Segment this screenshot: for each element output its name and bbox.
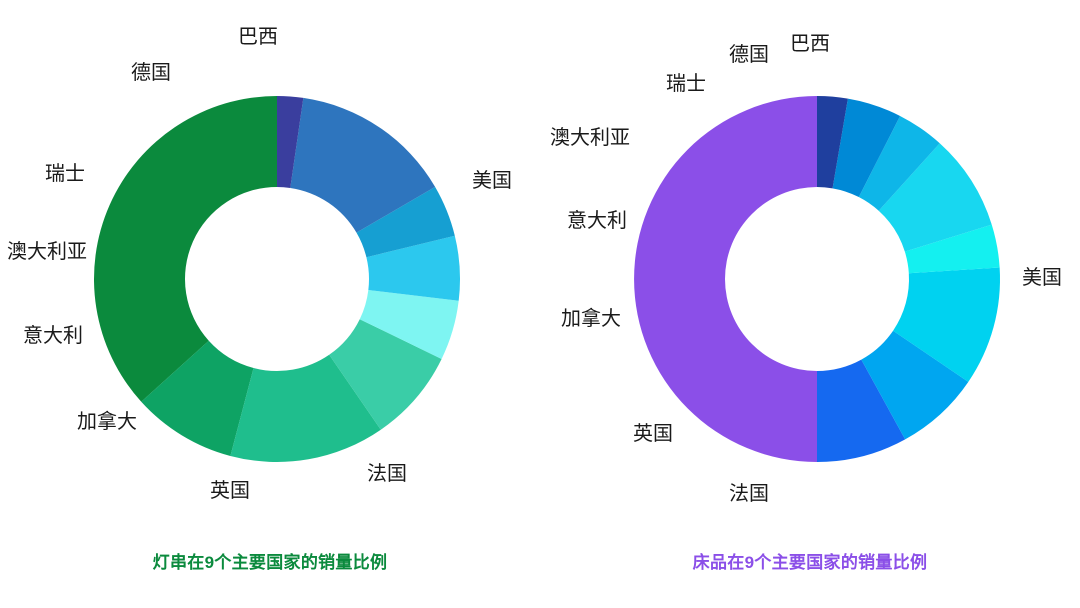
slice-label: 意大利	[23, 326, 83, 346]
slice-label: 德国	[131, 63, 171, 83]
slice-label: 加拿大	[561, 309, 621, 329]
slice-label: 加拿大	[77, 412, 137, 432]
slice-label: 澳大利亚	[550, 128, 630, 148]
slice-label: 法国	[367, 464, 407, 484]
chart-panel-bedding: 巴西德国瑞士澳大利亚意大利加拿大英国法国美国 床品在9个主要国家的销量比例	[540, 0, 1080, 608]
slice-label: 美国	[1022, 268, 1062, 288]
slice-label: 英国	[633, 424, 673, 444]
slice-label: 意大利	[567, 211, 627, 231]
slice-label: 英国	[210, 481, 250, 501]
slice-label: 法国	[729, 484, 769, 504]
chart-title-bedding: 床品在9个主要国家的销量比例	[540, 548, 1080, 573]
slice-label: 美国	[472, 171, 512, 191]
slice-label: 巴西	[238, 27, 278, 47]
donut-chart-string-lights	[0, 0, 540, 540]
chart-title-string-lights: 灯串在9个主要国家的销量比例	[0, 548, 540, 573]
slice-label: 澳大利亚	[7, 242, 87, 262]
slice-label: 瑞士	[45, 164, 85, 184]
donut-slice[interactable]	[94, 96, 277, 402]
dual-donut-chart-board: 巴西德国瑞士澳大利亚意大利加拿大英国法国美国 灯串在9个主要国家的销量比例 巴西…	[0, 0, 1080, 608]
slice-label: 德国	[729, 45, 769, 65]
chart-panel-string-lights: 巴西德国瑞士澳大利亚意大利加拿大英国法国美国 灯串在9个主要国家的销量比例	[0, 0, 540, 608]
slice-label: 瑞士	[666, 74, 706, 94]
slice-label: 巴西	[790, 34, 830, 54]
donut-chart-bedding	[540, 0, 1080, 540]
donut-stage-bedding: 巴西德国瑞士澳大利亚意大利加拿大英国法国美国	[540, 0, 1080, 540]
donut-slice[interactable]	[634, 96, 817, 462]
donut-stage-string-lights: 巴西德国瑞士澳大利亚意大利加拿大英国法国美国	[0, 0, 540, 540]
